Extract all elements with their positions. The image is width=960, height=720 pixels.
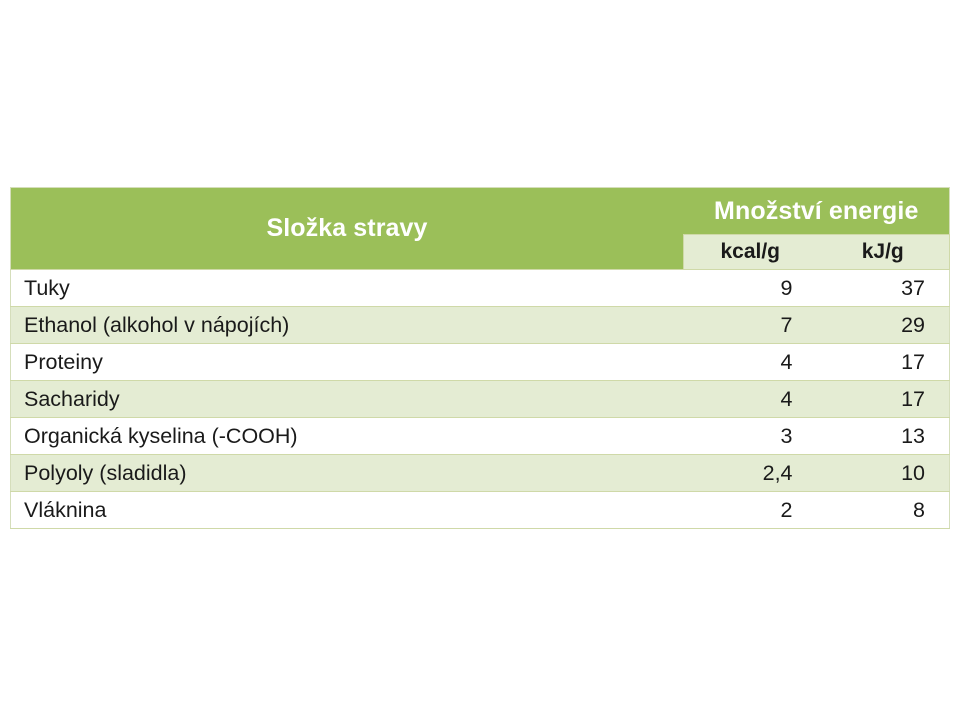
table-row: Polyoly (sladidla) 2,4 10 [11, 455, 950, 492]
column-header-kcal-per-gram: kcal/g [684, 235, 817, 270]
cell-kj-value: 17 [817, 381, 950, 418]
cell-component-name: Vláknina [11, 492, 684, 529]
table-body: Tuky 9 37 Ethanol (alkohol v nápojích) 7… [11, 270, 950, 529]
header-row-main: Složka stravy Množství energie [11, 188, 950, 235]
table-row: Vláknina 2 8 [11, 492, 950, 529]
cell-component-name: Proteiny [11, 344, 684, 381]
cell-kcal-value: 3 [684, 418, 817, 455]
column-header-kj-per-gram: kJ/g [817, 235, 950, 270]
cell-kj-value: 8 [817, 492, 950, 529]
cell-component-name: Sacharidy [11, 381, 684, 418]
table-header: Složka stravy Množství energie kcal/g kJ… [11, 188, 950, 270]
cell-kj-value: 37 [817, 270, 950, 307]
energy-table-container: Složka stravy Množství energie kcal/g kJ… [10, 187, 949, 529]
table-row: Sacharidy 4 17 [11, 381, 950, 418]
cell-component-name: Polyoly (sladidla) [11, 455, 684, 492]
cell-kcal-value: 4 [684, 344, 817, 381]
cell-component-name: Organická kyselina (-COOH) [11, 418, 684, 455]
table-row: Proteiny 4 17 [11, 344, 950, 381]
diet-energy-table: Složka stravy Množství energie kcal/g kJ… [10, 187, 950, 529]
cell-kcal-value: 4 [684, 381, 817, 418]
cell-kj-value: 17 [817, 344, 950, 381]
cell-kcal-value: 2,4 [684, 455, 817, 492]
column-header-energy-amount: Množství energie [684, 188, 950, 235]
cell-component-name: Ethanol (alkohol v nápojích) [11, 307, 684, 344]
cell-kcal-value: 2 [684, 492, 817, 529]
cell-kj-value: 10 [817, 455, 950, 492]
cell-kj-value: 13 [817, 418, 950, 455]
table-row: Organická kyselina (-COOH) 3 13 [11, 418, 950, 455]
table-row: Ethanol (alkohol v nápojích) 7 29 [11, 307, 950, 344]
cell-kj-value: 29 [817, 307, 950, 344]
column-header-diet-component: Složka stravy [11, 188, 684, 270]
cell-kcal-value: 9 [684, 270, 817, 307]
cell-component-name: Tuky [11, 270, 684, 307]
table-row: Tuky 9 37 [11, 270, 950, 307]
cell-kcal-value: 7 [684, 307, 817, 344]
